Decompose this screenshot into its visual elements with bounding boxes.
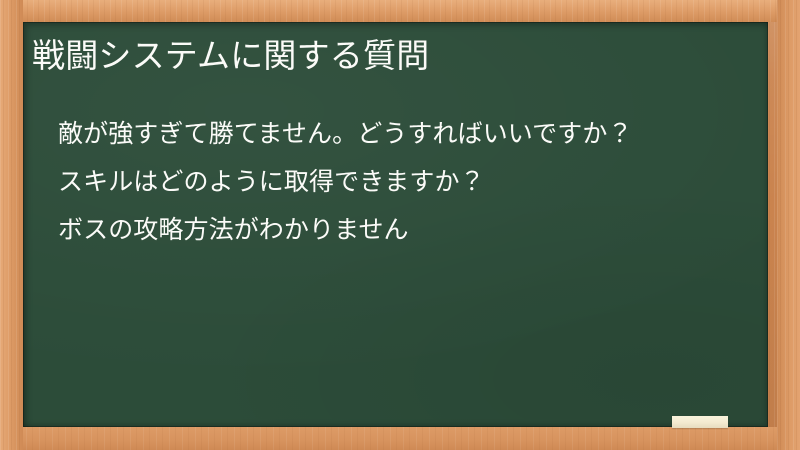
frame-stile-right (777, 0, 800, 450)
slide-title: 戦闘システムに関する質問 (32, 33, 758, 79)
chalk-stick (672, 416, 728, 428)
frame-rail-top (0, 0, 800, 22)
frame-stile-left (0, 0, 23, 450)
frame-rail-bottom (0, 427, 800, 450)
blackboard-slide: 戦闘システムに関する質問 敵が強すぎて勝てません。どうすればいいですか？ スキル… (0, 0, 800, 450)
question-list: 敵が強すぎて勝てません。どうすればいいですか？ スキルはどのように取得できますか… (58, 114, 748, 258)
question-item-1: 敵が強すぎて勝てません。どうすればいいですか？ (58, 114, 748, 155)
blackboard-surface: 戦闘システムに関する質問 敵が強すぎて勝てません。どうすればいいですか？ スキル… (23, 22, 768, 427)
question-item-2: スキルはどのように取得できますか？ (58, 162, 748, 203)
question-item-3: ボスの攻略方法がわかりません (58, 210, 748, 251)
